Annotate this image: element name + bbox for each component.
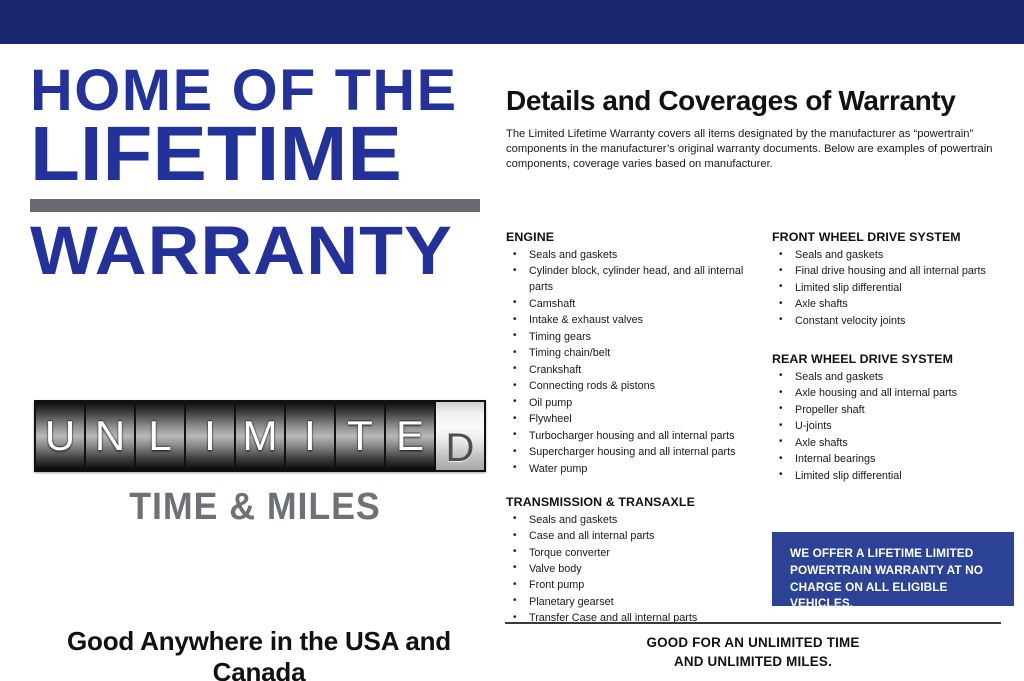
list-item: Connecting rods & pistons — [506, 379, 756, 395]
odometer-char: D — [446, 428, 475, 468]
section-engine: ENGINE Seals and gaskets Cylinder block,… — [506, 230, 756, 478]
footer-divider-rule — [505, 622, 1001, 624]
section-heading-transmission: TRANSMISSION & TRANSAXLE — [506, 495, 756, 509]
coverage-column-right: FRONT WHEEL DRIVE SYSTEM Seals and gaske… — [772, 230, 1020, 502]
headline-line-1: HOME OF THE — [30, 64, 491, 117]
callout-line-2: POWERTRAIN WARRANTY AT NO — [790, 562, 998, 579]
footer-line-1: GOOD FOR AN UNLIMITED TIME — [505, 633, 1001, 652]
list-item: Seals and gaskets — [506, 248, 756, 264]
odometer-cell: I — [186, 402, 234, 470]
odometer-cell: M — [236, 402, 284, 470]
list-item: Water pump — [506, 462, 756, 478]
list-item: Front pump — [506, 578, 756, 594]
footer-line-2: AND UNLIMITED MILES. — [505, 652, 1001, 671]
list-item: Final drive housing and all internal par… — [772, 264, 1020, 280]
list-item: Planetary gearset — [506, 595, 756, 611]
list-item: Oil pump — [506, 396, 756, 412]
list-item: Seals and gaskets — [506, 513, 756, 529]
odometer-cell: I — [286, 402, 334, 470]
odometer-char: I — [204, 415, 216, 457]
section-list-transmission: Seals and gaskets Case and all internal … — [506, 513, 756, 628]
odometer-graphic: U N L I M I T E D — [34, 400, 486, 472]
odometer-cell: U — [36, 402, 84, 470]
list-item: Intake & exhaust valves — [506, 313, 756, 329]
list-item: U-joints — [772, 419, 1020, 435]
coverage-column-left: ENGINE Seals and gaskets Cylinder block,… — [506, 230, 756, 644]
list-item: Torque converter — [506, 546, 756, 562]
intro-paragraph: The Limited Lifetime Warranty covers all… — [506, 127, 1006, 172]
section-transmission: TRANSMISSION & TRANSAXLE Seals and gaske… — [506, 495, 756, 628]
odometer-char: L — [148, 415, 171, 457]
list-item: Case and all internal parts — [506, 529, 756, 545]
list-item: Axle housing and all internal parts — [772, 386, 1020, 402]
list-item: Timing chain/belt — [506, 346, 756, 362]
odometer-cell: E — [386, 402, 434, 470]
section-list-rear-wheel-drive: Seals and gaskets Axle housing and all i… — [772, 370, 1020, 485]
section-rear-wheel-drive: REAR WHEEL DRIVE SYSTEM Seals and gasket… — [772, 352, 1020, 485]
odometer-cell-rolling: D — [436, 402, 484, 470]
list-item: Propeller shaft — [772, 403, 1020, 419]
footer-text-block: GOOD FOR AN UNLIMITED TIME AND UNLIMITED… — [505, 633, 1001, 671]
odometer-char: U — [45, 415, 75, 457]
list-item: Seals and gaskets — [772, 370, 1020, 386]
list-item: Axle shafts — [772, 297, 1020, 313]
headline-line-2: LIFETIME — [30, 119, 509, 190]
top-navy-bar — [0, 0, 1024, 44]
section-heading-front-wheel-drive: FRONT WHEEL DRIVE SYSTEM — [772, 230, 1020, 244]
section-list-engine: Seals and gaskets Cylinder block, cylind… — [506, 248, 756, 478]
odometer-char: N — [95, 415, 125, 457]
list-item: Constant velocity joints — [772, 314, 1020, 330]
list-item: Timing gears — [506, 330, 756, 346]
odometer-char: I — [304, 415, 316, 457]
list-item: Axle shafts — [772, 436, 1020, 452]
left-panel: HOME OF THE LIFETIME WARRANTY U N L I M … — [0, 44, 500, 681]
list-item: Valve body — [506, 562, 756, 578]
section-heading-rear-wheel-drive: REAR WHEEL DRIVE SYSTEM — [772, 352, 1020, 366]
headline-line-3: WARRANTY — [30, 219, 500, 282]
good-anywhere-tagline: Good Anywhere in the USA and Canada — [34, 626, 484, 681]
list-item: Internal bearings — [772, 452, 1020, 468]
callout-line-3: CHARGE ON ALL ELIGIBLE VEHICLES. — [790, 579, 998, 613]
list-item: Limited slip differential — [772, 469, 1020, 485]
section-heading-engine: ENGINE — [506, 230, 756, 244]
odometer-cell: N — [86, 402, 134, 470]
odometer-cell: T — [336, 402, 384, 470]
gray-divider-rule — [30, 199, 480, 212]
section-list-front-wheel-drive: Seals and gaskets Final drive housing an… — [772, 248, 1020, 330]
list-item: Supercharger housing and all internal pa… — [506, 445, 756, 461]
odometer-char: E — [396, 415, 424, 457]
list-item: Crankshaft — [506, 363, 756, 379]
list-item: Camshaft — [506, 297, 756, 313]
section-front-wheel-drive: FRONT WHEEL DRIVE SYSTEM Seals and gaske… — [772, 230, 1020, 330]
list-item: Limited slip differential — [772, 281, 1020, 297]
odometer-cell: L — [136, 402, 184, 470]
details-title: Details and Coverages of Warranty — [506, 85, 955, 117]
headline-block: HOME OF THE LIFETIME WARRANTY — [30, 64, 482, 283]
list-item: Turbocharger housing and all internal pa… — [506, 429, 756, 445]
advertisement-page: HOME OF THE LIFETIME WARRANTY U N L I M … — [0, 0, 1024, 681]
right-panel: Details and Coverages of Warranty The Li… — [500, 44, 1024, 681]
list-item: Cylinder block, cylinder head, and all i… — [506, 264, 756, 296]
odometer-char: M — [243, 415, 278, 457]
no-charge-callout-box: WE OFFER A LIFETIME LIMITED POWERTRAIN W… — [772, 532, 1014, 606]
callout-line-1: WE OFFER A LIFETIME LIMITED — [790, 545, 998, 562]
odometer-char: T — [347, 415, 373, 457]
list-item: Seals and gaskets — [772, 248, 1020, 264]
list-item: Transfer Case and all internal parts — [506, 611, 756, 627]
list-item: Flywheel — [506, 412, 756, 428]
time-and-miles-label: TIME & MILES — [47, 486, 462, 529]
